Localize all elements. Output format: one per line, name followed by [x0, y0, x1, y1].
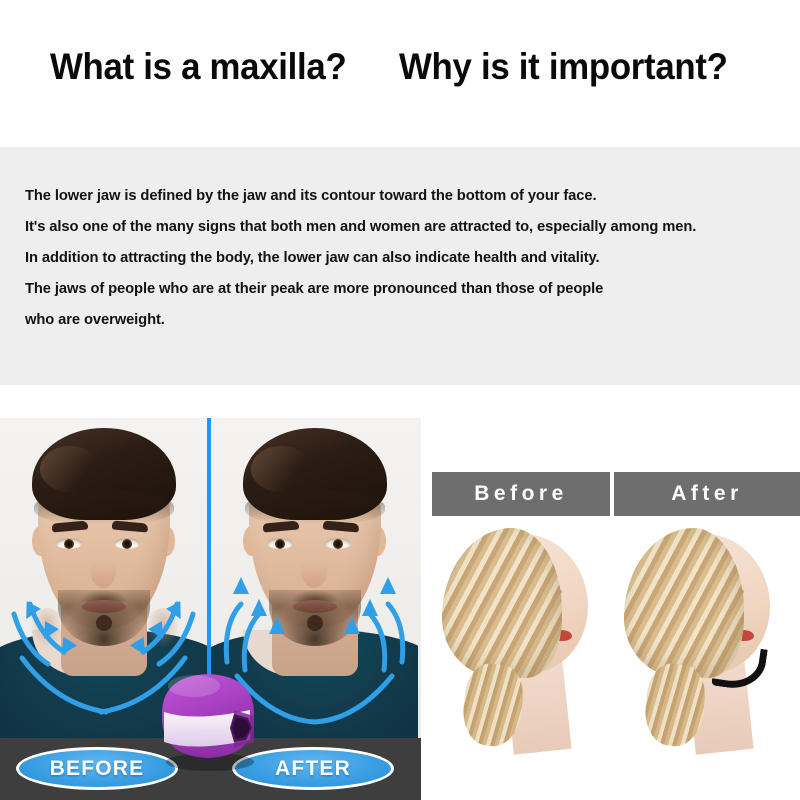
description-block: The lower jaw is defined by the jaw and …: [0, 147, 800, 385]
panel-gap: [421, 418, 432, 800]
women-label-after: After: [671, 482, 743, 506]
description-line-2: It's also one of the many signs that bot…: [25, 211, 764, 242]
women-label-before: Before: [474, 482, 568, 506]
header-titles: What is a maxilla? Why is it important?: [50, 44, 770, 90]
description-line-1: The lower jaw is defined by the jaw and …: [25, 180, 764, 211]
women-before-after-panel: Before After: [432, 472, 800, 800]
male-jowl-right-before: [146, 608, 180, 648]
women-bar-before: Before: [432, 472, 610, 516]
description-line-5: who are overweight.: [25, 304, 764, 335]
male-eye-right-before: [114, 538, 140, 549]
women-bar-after: After: [614, 472, 800, 516]
male-eye-left-before: [56, 538, 82, 549]
male-soul-patch-after: [307, 615, 323, 631]
male-soul-patch-before: [96, 615, 112, 631]
right-top-spacer: [421, 385, 800, 472]
male-nose-before: [90, 552, 116, 588]
header: What is a maxilla? Why is it important?: [0, 0, 800, 147]
female-hair-before: [442, 528, 562, 678]
description-line-3: In addition to attracting the body, the …: [25, 242, 764, 273]
male-hair-before: [32, 428, 176, 520]
badge-after-label: AFTER: [275, 757, 351, 781]
male-nose-after: [301, 552, 327, 588]
female-profile-after: [618, 524, 800, 756]
male-hair-after: [243, 428, 387, 520]
description-line-4: The jaws of people who are at their peak…: [25, 273, 764, 304]
page-title-left: What is a maxilla?: [50, 44, 346, 90]
badge-before-label: BEFORE: [50, 757, 145, 781]
male-eye-left-after: [267, 538, 293, 549]
description-lines: The lower jaw is defined by the jaw and …: [25, 180, 787, 335]
male-eye-right-after: [325, 538, 351, 549]
jaw-exerciser-device: [148, 662, 266, 772]
jawline-highlight-icon: [711, 643, 767, 693]
page-title-right: Why is it important?: [399, 44, 728, 90]
female-profile-before: [436, 524, 620, 756]
